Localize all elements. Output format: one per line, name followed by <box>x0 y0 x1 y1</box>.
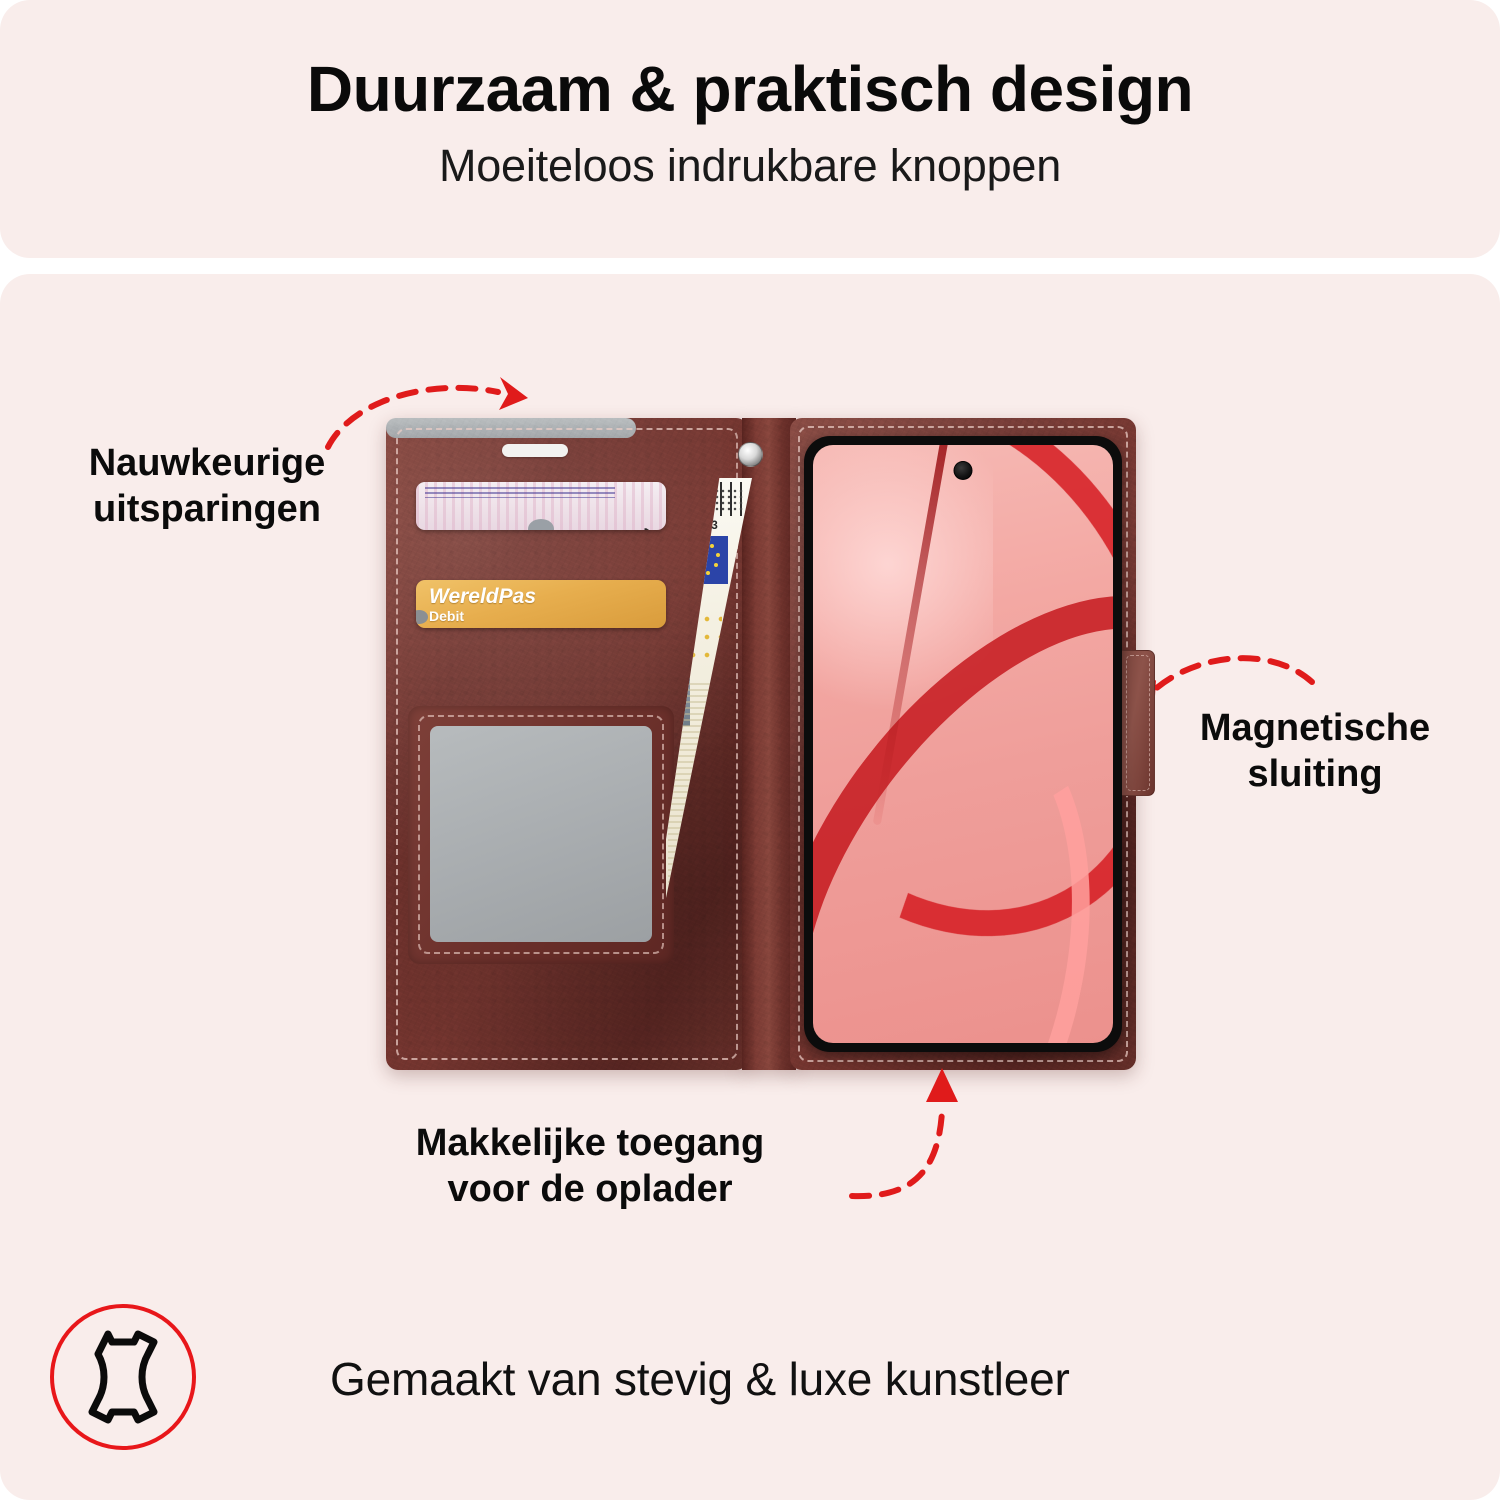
wallet-spine <box>742 418 796 1070</box>
page-subtitle: Moeiteloos indrukbare knoppen <box>0 140 1500 192</box>
annotation-magnetic-line1: Magnetische <box>1150 705 1480 751</box>
annotation-charger-line1: Makkelijke toegang <box>320 1120 860 1166</box>
annotation-cutouts: Nauwkeurige uitsparingen <box>42 440 372 533</box>
smartphone <box>804 436 1122 1052</box>
debit-card-type: Debit <box>429 608 464 624</box>
debit-card-brand: WereldPas <box>429 585 536 609</box>
header-panel: Duurzaam & praktisch design Moeiteloos i… <box>0 0 1500 258</box>
annotation-magnetic: Magnetische sluiting <box>1150 705 1480 798</box>
leather-badge-circle <box>52 1306 194 1448</box>
annotation-charger-line2: voor de oplader <box>320 1166 860 1212</box>
id-card: 797 <box>416 482 666 530</box>
id-window-pocket <box>408 706 674 964</box>
pocket-window <box>430 726 652 942</box>
metal-rivet-icon <box>738 442 763 467</box>
leather-badge <box>48 1302 198 1452</box>
annotation-cutouts-line1: Nauwkeurige <box>42 440 372 486</box>
leather-hide-icon <box>92 1334 154 1420</box>
speaker-cutout-icon <box>502 444 568 457</box>
magnetic-tab-stitching <box>1126 655 1150 791</box>
annotation-cutouts-line2: uitsparingen <box>42 486 372 532</box>
spine-grain-texture <box>742 418 796 1070</box>
infographic-page: Duurzaam & praktisch design Moeiteloos i… <box>0 0 1500 1500</box>
phone-screen <box>813 445 1113 1043</box>
wallet-case-illustration: 797 WereldPas Debit BC 2013 <box>386 418 1136 1070</box>
debit-card: WereldPas Debit <box>416 580 666 628</box>
id-card-number: 797 <box>641 527 661 530</box>
punch-hole-camera-icon <box>954 461 973 480</box>
footer-text: Gemaakt van stevig & luxe kunstleer <box>330 1352 1070 1406</box>
id-card-microtext <box>425 487 615 498</box>
magnetic-closure-tab <box>1121 650 1155 796</box>
annotation-magnetic-line2: sluiting <box>1150 751 1480 797</box>
debit-card-thumb-notch <box>416 610 428 624</box>
page-title: Duurzaam & praktisch design <box>0 52 1500 126</box>
annotation-charger: Makkelijke toegang voor de oplader <box>320 1120 860 1213</box>
